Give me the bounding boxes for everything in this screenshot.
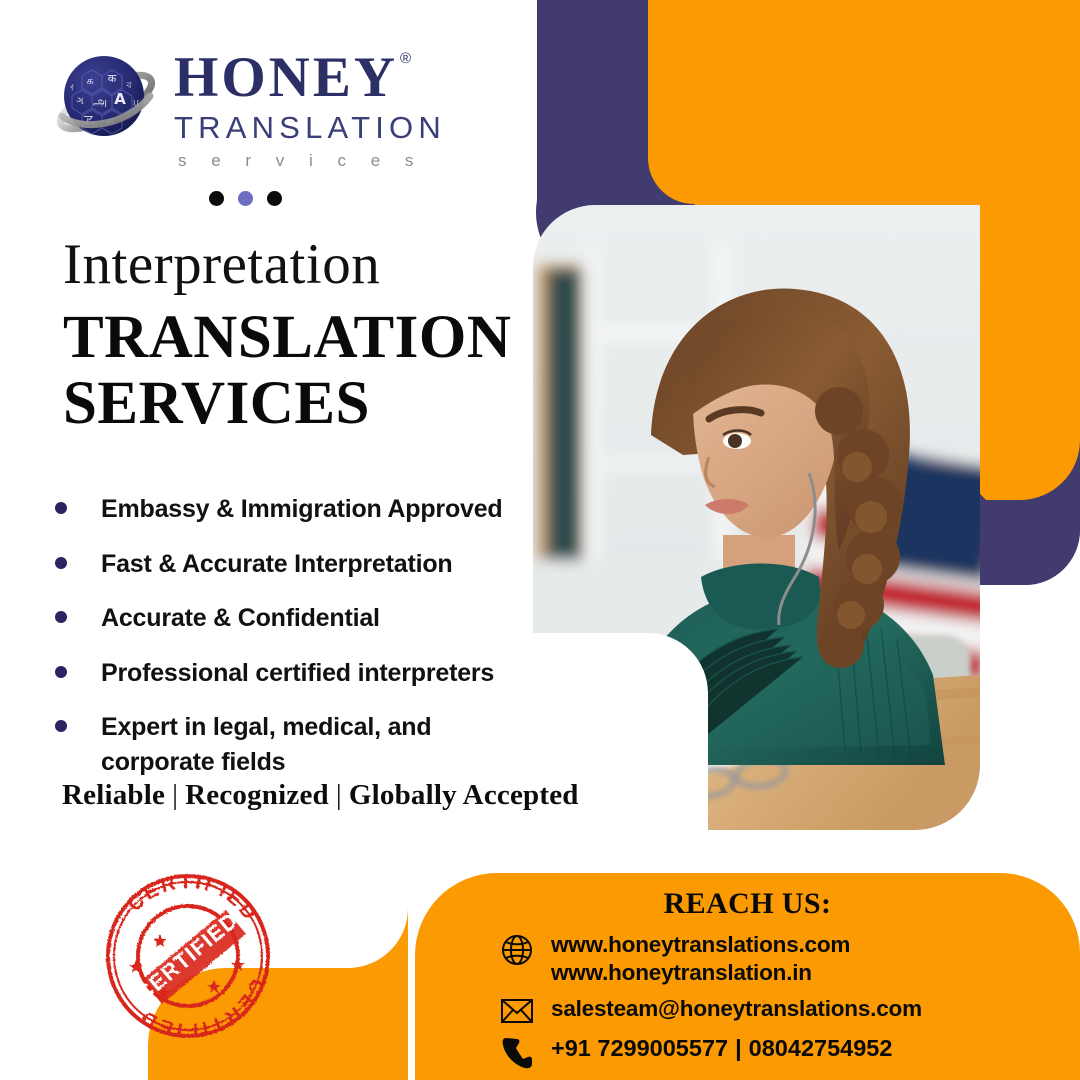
brand-logo[interactable]: க क ব ગ அ A ਪ ア ഒ ｲ HONEY® TRANSLATION s…	[52, 44, 446, 171]
svg-text:ব: ব	[125, 81, 132, 91]
brand-name-top: HONEY®	[174, 50, 412, 106]
headline-bold-2: SERVICES	[63, 371, 533, 437]
bullet-icon	[55, 502, 67, 514]
headline-bold-1: TRANSLATION	[63, 305, 533, 371]
headline-block: Interpretation TRANSLATION SERVICES	[63, 236, 533, 437]
purple-right-block	[980, 500, 1080, 585]
bullet-icon	[55, 666, 67, 678]
svg-text:क: क	[108, 72, 117, 85]
contact-panel: REACH US: www.honeytranslations.com www.…	[415, 873, 1080, 1080]
feature-text: Professional certified interpreters	[101, 656, 494, 691]
contact-website[interactable]: www.honeytranslations.com www.honeytrans…	[551, 931, 850, 986]
poster-canvas: க क ব ગ அ A ਪ ア ഒ ｲ HONEY® TRANSLATION s…	[0, 0, 1080, 1080]
phone-1[interactable]: +91 7299005577	[551, 1035, 728, 1061]
contact-row-email: salesteam@honeytranslations.com	[497, 995, 1070, 1025]
hero-photo-image	[533, 205, 980, 830]
contact-phone[interactable]: +91 7299005577|08042754952	[551, 1034, 892, 1063]
contact-heading: REACH US:	[415, 887, 1080, 921]
website-line-2[interactable]: www.honeytranslation.in	[551, 959, 850, 987]
envelope-icon	[497, 995, 537, 1025]
phone-icon	[497, 1034, 537, 1070]
bullet-icon	[55, 720, 67, 732]
brand-name-mid: TRANSLATION	[174, 110, 446, 146]
feature-text: Fast & Accurate Interpretation	[101, 547, 452, 582]
brand-name-sub: s e r v i c e s	[174, 151, 446, 171]
svg-text:க: க	[86, 74, 93, 87]
brand-name-top-text: HONEY	[174, 46, 398, 109]
certified-stamp: CERTIFIED CERTIFIED CERTIFIED	[100, 868, 276, 1044]
bullet-icon	[55, 557, 67, 569]
list-item: Expert in legal, medical, and corporate …	[55, 710, 545, 779]
tagline-sep-2: |	[329, 779, 349, 811]
registered-mark: ®	[400, 50, 414, 67]
svg-text:CERTIFIED: CERTIFIED	[124, 871, 262, 926]
svg-text:ગ: ગ	[76, 96, 83, 107]
tagline: Reliable|Recognized|Globally Accepted	[62, 779, 579, 812]
contact-email[interactable]: salesteam@honeytranslations.com	[551, 995, 922, 1023]
brand-wordmark: HONEY® TRANSLATION s e r v i c e s	[174, 44, 446, 171]
svg-text:அ: அ	[93, 95, 107, 110]
dot-2	[238, 191, 253, 206]
tagline-part-1: Reliable	[62, 779, 165, 811]
stamp-graphic: CERTIFIED CERTIFIED CERTIFIED	[108, 871, 269, 1041]
website-line-1[interactable]: www.honeytranslations.com	[551, 932, 850, 957]
tagline-part-3: Globally Accepted	[349, 779, 579, 811]
dot-3	[267, 191, 282, 206]
globe-icon	[497, 931, 537, 967]
list-item: Fast & Accurate Interpretation	[55, 547, 545, 582]
contact-row-website: www.honeytranslations.com www.honeytrans…	[497, 931, 1070, 986]
feature-text: Accurate & Confidential	[101, 601, 380, 636]
hero-photo	[533, 205, 980, 830]
phone-separator: |	[728, 1035, 749, 1061]
decorative-dots	[209, 191, 282, 206]
globe-languages-icon: க क ব ગ அ A ਪ ア ഒ ｲ	[52, 44, 160, 152]
feature-list: Embassy & Immigration Approved Fast & Ac…	[55, 492, 545, 799]
tagline-sep-1: |	[165, 779, 185, 811]
phone-2[interactable]: 08042754952	[749, 1035, 893, 1061]
list-item: Professional certified interpreters	[55, 656, 545, 691]
svg-text:CERTIFIED: CERTIFIED	[131, 907, 243, 1007]
headline-script: Interpretation	[63, 236, 533, 293]
feature-text: Embassy & Immigration Approved	[101, 492, 503, 527]
svg-text:A: A	[114, 90, 126, 108]
tagline-part-2: Recognized	[185, 779, 329, 811]
contact-row-phone: +91 7299005577|08042754952	[497, 1034, 1070, 1070]
list-item: Accurate & Confidential	[55, 601, 545, 636]
bullet-icon	[55, 611, 67, 623]
dot-1	[209, 191, 224, 206]
list-item: Embassy & Immigration Approved	[55, 492, 545, 527]
feature-text: Expert in legal, medical, and corporate …	[101, 710, 461, 779]
svg-text:ｲ: ｲ	[70, 83, 74, 92]
